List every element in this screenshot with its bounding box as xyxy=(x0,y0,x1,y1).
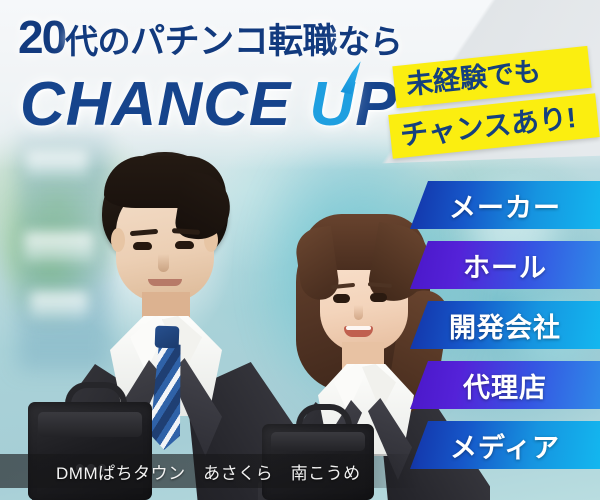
category-button-hall[interactable]: ホール xyxy=(410,241,600,289)
category-button-media[interactable]: メディア xyxy=(410,421,600,469)
category-label: メディア xyxy=(450,426,560,465)
category-label: ホール xyxy=(463,246,547,285)
logo-letter-u: U xyxy=(309,74,355,136)
category-label: 代理店 xyxy=(463,366,547,405)
advertising-banner[interactable]: 20代のパチンコ転職なら CHANCE U P 未経験でも チャンスあり! メー… xyxy=(0,0,600,500)
category-button-developer[interactable]: 開発会社 xyxy=(410,301,600,349)
badge-no-experience: 未経験でも チャンスあり! xyxy=(390,52,600,160)
category-label: 開発会社 xyxy=(449,306,561,345)
headline-age-number: 20 xyxy=(18,11,65,63)
category-button-list: メーカー ホール 開発会社 代理店 メディア xyxy=(410,181,600,481)
logo-word-chance: CHANCE xyxy=(20,70,291,139)
headline-age-suffix: 代の xyxy=(65,23,130,60)
category-button-maker[interactable]: メーカー xyxy=(410,181,600,229)
caption-bar: DMMぱちタウン あさくら 南こうめ xyxy=(0,454,420,488)
logo-chance-up: CHANCE U P xyxy=(20,74,398,136)
headline-keyword: パチンコ転職 xyxy=(130,22,337,61)
headline: 20代のパチンコ転職なら xyxy=(18,14,402,60)
caption-text: DMMぱちタウン あさくら 南こうめ xyxy=(0,459,361,484)
category-label: メーカー xyxy=(449,186,561,225)
category-button-agency[interactable]: 代理店 xyxy=(410,361,600,409)
